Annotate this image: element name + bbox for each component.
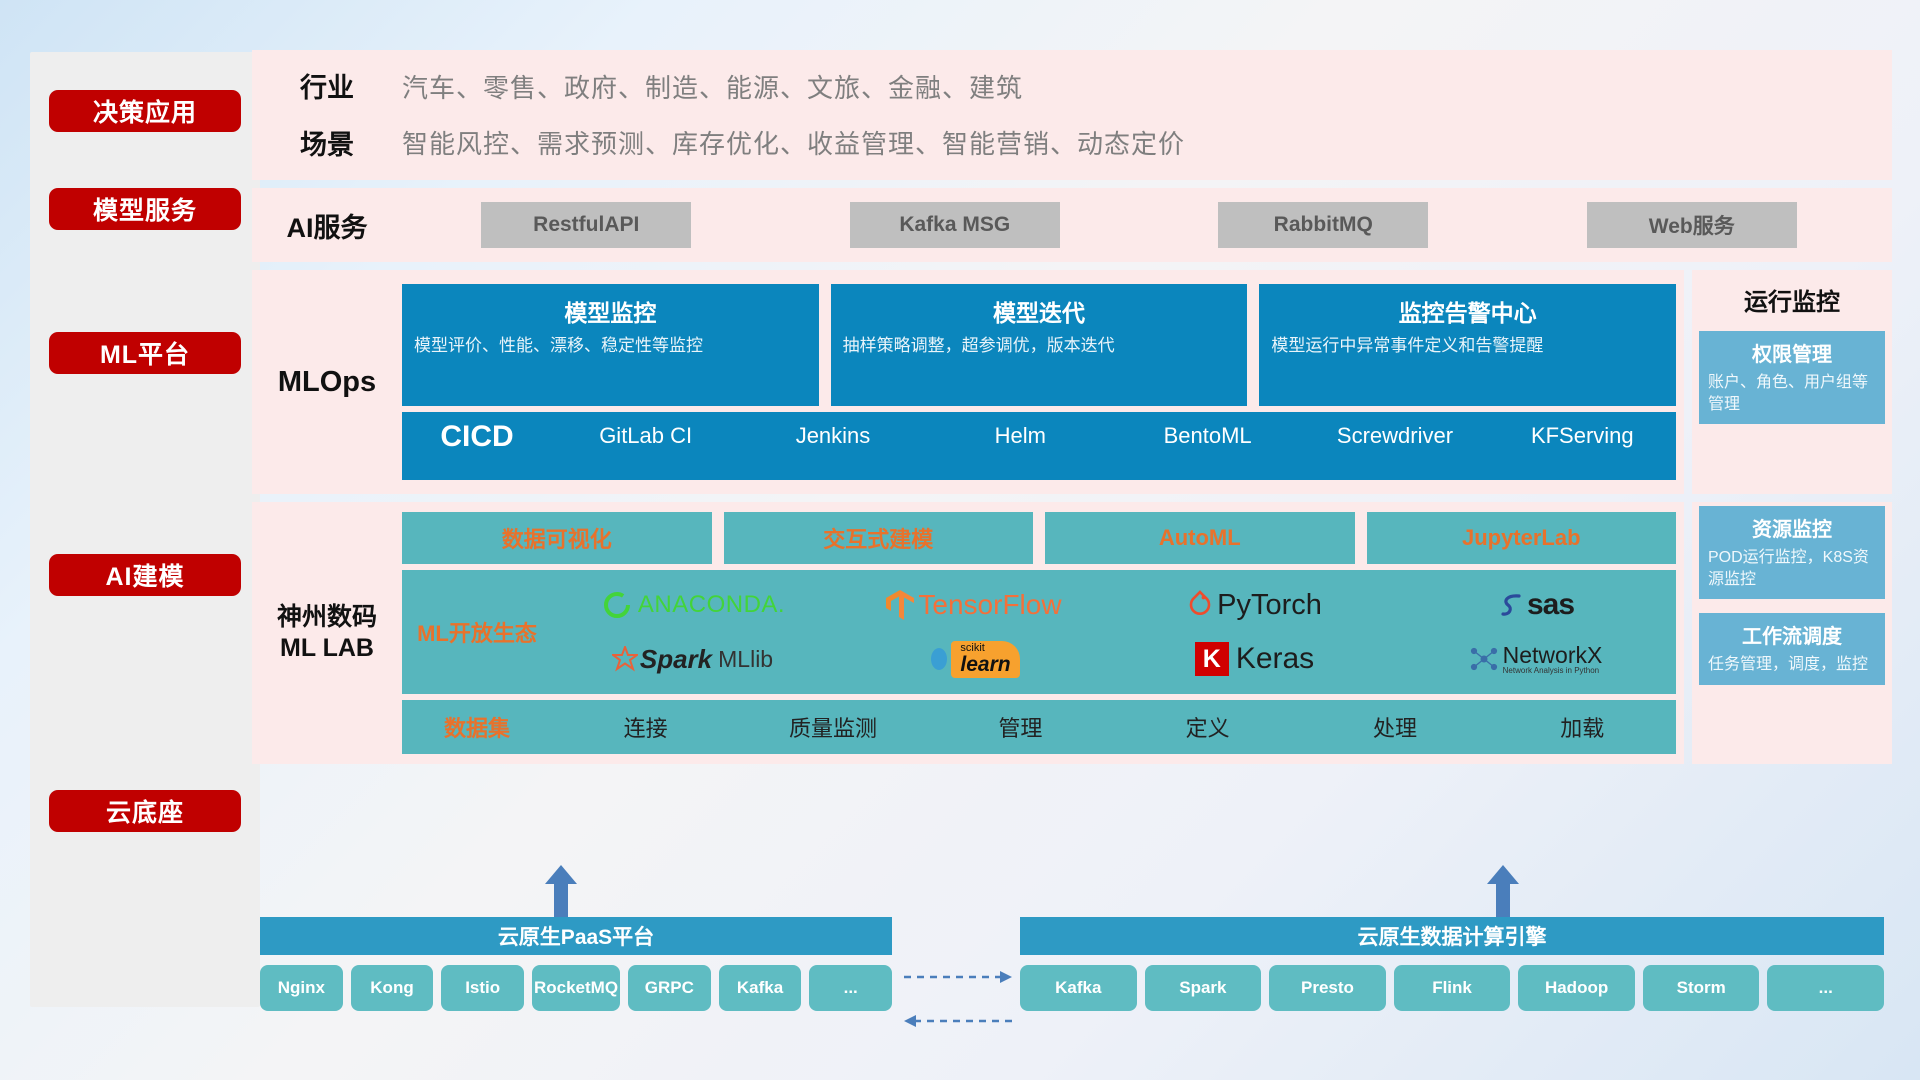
paas-chip-grpc[interactable]: GRPC [628,965,711,1011]
compute-chip-list: Kafka Spark Presto Flink Hadoop Storm ..… [1020,965,1884,1011]
ai-service-band: AI服务 RestfulAPI Kafka MSG RabbitMQ Web服务 [252,188,1892,262]
mlops-card-row: 模型监控 模型评价、性能、漂移、稳定性等监控 模型迭代 抽样策略调整，超参调优，… [402,284,1676,406]
dataset-label: 数据集 [402,711,552,743]
networkx-logo-tagline: Network Analysis in Python [1503,667,1603,675]
paas-chip-kong[interactable]: Kong [351,965,434,1011]
sidebar-item-label: 云底座 [106,793,184,829]
paas-chip-nginx[interactable]: Nginx [260,965,343,1011]
bidirectional-connector-icon [900,963,1016,1031]
mlops-card-alert-center[interactable]: 监控告警中心 模型运行中异常事件定义和告警提醒 [1259,284,1676,406]
cicd-item-jenkins[interactable]: Jenkins [739,420,926,448]
sidebar-item-label: AI建模 [105,557,184,593]
mlops-band: MLOps 模型监控 模型评价、性能、漂移、稳定性等监控 模型迭代 抽样策略调整… [252,270,1684,494]
anaconda-logo: ANACONDA. [552,578,833,632]
main-stack: 行业 场景 汽车、零售、政府、制造、能源、文旅、金融、建筑 智能风控、需求预测、… [252,50,1892,772]
cicd-item-kfserving[interactable]: KFServing [1489,420,1676,448]
paas-chip-kafka[interactable]: Kafka [719,965,802,1011]
sidebar-item-decision-app[interactable]: 决策应用 [49,90,241,132]
monitoring-card-resource[interactable]: 资源监控 POD运行监控，K8S资源监控 [1699,506,1885,599]
mlops-label: MLOps [252,366,402,399]
industry-value: 汽车、零售、政府、制造、能源、文旅、金融、建筑 [402,68,1023,105]
card-desc: 模型运行中异常事件定义和告警提醒 [1271,335,1664,358]
layer-rail: 决策应用 模型服务 ML平台 AI建模 云底座 [30,52,260,1007]
paas-panel: 云原生PaaS平台 Nginx Kong Istio RocketMQ GRPC… [260,917,892,1011]
paas-chip-more[interactable]: ... [809,965,892,1011]
compute-chip-presto[interactable]: Presto [1269,965,1386,1011]
scenario-label: 场景 [252,123,402,162]
industry-scenario-band: 行业 场景 汽车、零售、政府、制造、能源、文旅、金融、建筑 智能风控、需求预测、… [252,50,1892,180]
mllab-label: 神州数码 ML LAB [252,602,402,665]
monitoring-card-permissions[interactable]: 权限管理 账户、角色、用户组等管理 [1699,331,1885,424]
dataset-row: 数据集 连接 质量监测 管理 定义 处理 加载 [402,700,1676,754]
mllab-and-monitoring: 神州数码 ML LAB 数据可视化 交互式建模 AutoML JupyterLa… [252,502,1892,764]
anaconda-logo-text: ANACONDA. [638,591,785,619]
ml-ecosystem-label: ML开放生态 [402,616,552,648]
scikit-learn-badge: scikit learn [951,641,1019,678]
mllab-label-line1: 神州数码 [252,602,402,633]
sidebar-item-cloud-base[interactable]: 云底座 [49,790,241,832]
mllab-label-line2: ML LAB [252,633,402,664]
compute-chip-hadoop[interactable]: Hadoop [1518,965,1635,1011]
monitoring-column-bottom: 资源监控 POD运行监控，K8S资源监控 工作流调度 任务管理，调度，监控 [1692,502,1892,764]
arrow-up-paas-icon [544,865,578,921]
card-title: 模型迭代 [843,294,1236,328]
dataset-item-connect[interactable]: 连接 [552,711,739,743]
sidebar-item-label: 决策应用 [93,93,197,129]
ml-ecosystem-row: ML开放生态 ANACONDA. [402,570,1676,694]
paas-chip-list: Nginx Kong Istio RocketMQ GRPC Kafka ... [260,965,892,1011]
tab-data-visualization[interactable]: 数据可视化 [402,512,712,564]
learn-text: learn [960,654,1010,675]
keras-logo-mark: K [1195,642,1229,676]
spark-logo-text: Spark [640,644,712,675]
card-title: 工作流调度 [1708,620,1876,649]
ai-service-chip[interactable]: Kafka MSG [850,202,1060,248]
monitoring-card-workflow[interactable]: 工作流调度 任务管理，调度，监控 [1699,613,1885,685]
compute-title: 云原生数据计算引擎 [1020,917,1884,955]
mlops-and-monitoring: MLOps 模型监控 模型评价、性能、漂移、稳定性等监控 模型迭代 抽样策略调整… [252,270,1892,494]
sidebar-item-label: ML平台 [100,335,190,371]
monitoring-column-top: 运行监控 权限管理 账户、角色、用户组等管理 [1692,270,1892,494]
scenario-value: 智能风控、需求预测、库存优化、收益管理、智能营销、动态定价 [402,124,1185,161]
compute-chip-spark[interactable]: Spark [1145,965,1262,1011]
keras-logo-text: Keras [1236,642,1314,676]
scikit-text: scikit [960,643,1010,654]
compute-chip-storm[interactable]: Storm [1643,965,1760,1011]
cicd-label: CICD [402,420,552,455]
tab-jupyterlab[interactable]: JupyterLab [1367,512,1677,564]
ai-service-chip-list: RestfulAPI Kafka MSG RabbitMQ Web服务 [402,202,1876,248]
tensorflow-logo: TensorFlow [833,578,1114,632]
sidebar-item-model-service[interactable]: 模型服务 [49,188,241,230]
sidebar-item-label: 模型服务 [93,191,197,227]
compute-chip-more[interactable]: ... [1767,965,1884,1011]
card-title: 监控告警中心 [1271,294,1664,328]
dataset-item-manage[interactable]: 管理 [927,711,1114,743]
sas-logo: sas [1395,578,1676,632]
card-desc: POD运行监控，K8S资源监控 [1708,547,1876,590]
compute-panel: 云原生数据计算引擎 Kafka Spark Presto Flink Hadoo… [1020,917,1884,1011]
card-desc: 账户、角色、用户组等管理 [1708,372,1876,415]
card-desc: 模型评价、性能、漂移、稳定性等监控 [414,335,807,358]
tab-automl[interactable]: AutoML [1045,512,1355,564]
keras-logo: K Keras [1114,632,1395,686]
dataset-item-process[interactable]: 处理 [1301,711,1488,743]
ai-service-label: AI服务 [252,206,402,245]
mlops-card-model-iteration[interactable]: 模型迭代 抽样策略调整，超参调优，版本迭代 [831,284,1248,406]
card-title: 权限管理 [1708,338,1876,367]
mllab-band: 神州数码 ML LAB 数据可视化 交互式建模 AutoML JupyterLa… [252,502,1684,764]
card-desc: 任务管理，调度，监控 [1708,654,1876,676]
mllib-logo-text: MLlib [718,646,773,673]
monitoring-header: 运行监控 [1744,282,1840,317]
tensorflow-logo-text: TensorFlow [918,589,1061,621]
paas-title: 云原生PaaS平台 [260,917,892,955]
cicd-item-helm[interactable]: Helm [927,420,1114,448]
industry-label: 行业 [252,66,402,105]
networkx-logo-text: NetworkX [1503,643,1603,667]
ai-service-chip[interactable]: RabbitMQ [1218,202,1428,248]
cicd-item-screwdriver[interactable]: Screwdriver [1301,420,1488,448]
sas-logo-text: sas [1527,588,1574,622]
paas-chip-istio[interactable]: Istio [441,965,524,1011]
tab-interactive-modeling[interactable]: 交互式建模 [724,512,1034,564]
dataset-item-quality[interactable]: 质量监测 [739,711,926,743]
scikit-learn-logo: scikit learn [833,632,1114,686]
card-title: 资源监控 [1708,513,1876,542]
pytorch-logo-text: PyTorch [1217,589,1322,622]
arrow-up-compute-icon [1486,865,1520,921]
compute-chip-flink[interactable]: Flink [1394,965,1511,1011]
cicd-row: CICD GitLab CI Jenkins Helm BentoML Scre… [402,412,1676,480]
dataset-item-load[interactable]: 加载 [1489,711,1676,743]
cloud-foundation: 云原生PaaS平台 Nginx Kong Istio RocketMQ GRPC… [252,885,1892,1025]
sidebar-item-ai-modeling[interactable]: AI建模 [49,554,241,596]
mllab-tab-row: 数据可视化 交互式建模 AutoML JupyterLab [402,512,1676,564]
pytorch-logo: PyTorch [1114,578,1395,632]
sidebar-item-ml-platform[interactable]: ML平台 [49,332,241,374]
paas-chip-rocketmq[interactable]: RocketMQ [532,965,620,1011]
architecture-diagram: 决策应用 模型服务 ML平台 AI建模 云底座 行业 场景 汽车、零售、政府、制… [0,0,1920,1080]
ai-service-chip[interactable]: RestfulAPI [481,202,691,248]
cicd-item-gitlab[interactable]: GitLab CI [552,420,739,448]
cicd-item-bentoml[interactable]: BentoML [1114,420,1301,448]
spark-mllib-logo: Spark MLlib [552,632,833,686]
compute-chip-kafka[interactable]: Kafka [1020,965,1137,1011]
card-desc: 抽样策略调整，超参调优，版本迭代 [843,335,1236,358]
networkx-logo: NetworkX Network Analysis in Python [1395,632,1676,686]
card-title: 模型监控 [414,294,807,328]
mlops-card-model-monitoring[interactable]: 模型监控 模型评价、性能、漂移、稳定性等监控 [402,284,819,406]
dataset-item-define[interactable]: 定义 [1114,711,1301,743]
ai-service-chip[interactable]: Web服务 [1587,202,1797,248]
